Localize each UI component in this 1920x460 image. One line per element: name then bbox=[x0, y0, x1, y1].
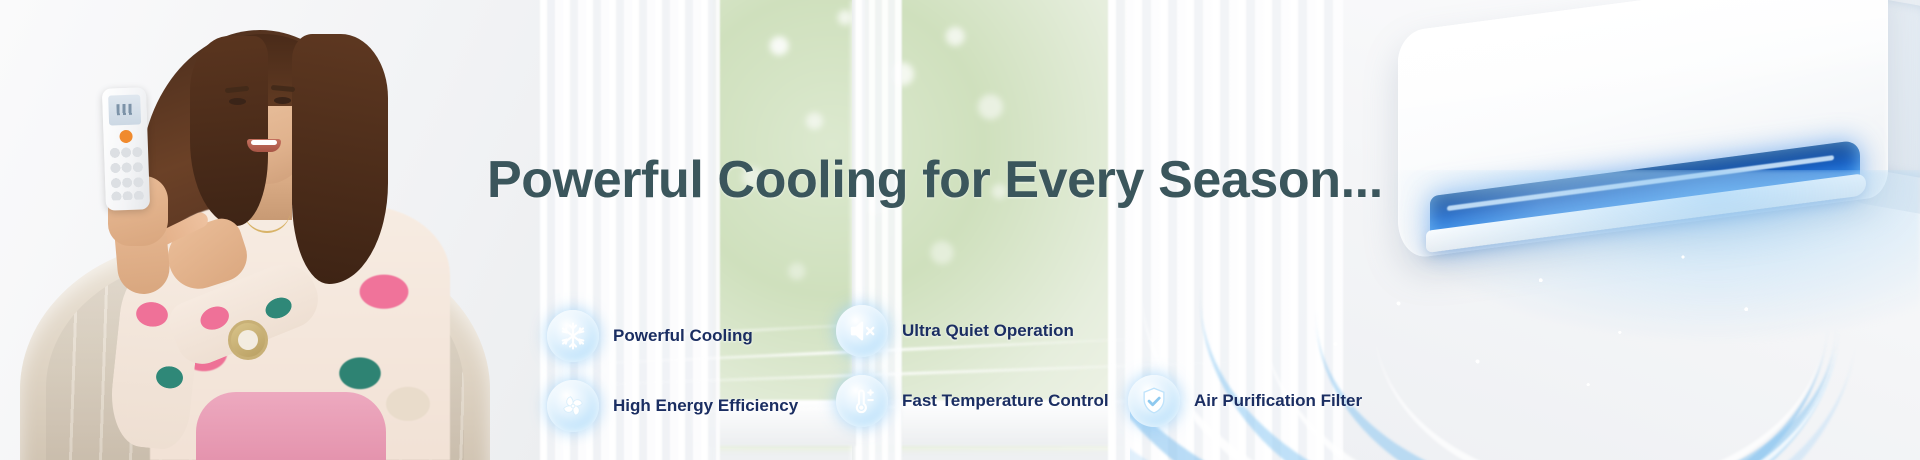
thermometer-plus-minus-icon bbox=[836, 375, 888, 427]
ac-remote-control bbox=[102, 87, 150, 210]
snowflake-icon bbox=[547, 310, 599, 362]
smile bbox=[247, 139, 281, 152]
wristwatch bbox=[228, 320, 268, 360]
feature-powerful-cooling: Powerful Cooling bbox=[547, 310, 753, 362]
feature-label: Ultra Quiet Operation bbox=[902, 321, 1074, 341]
remote-keypad bbox=[109, 145, 145, 200]
remote-power-button bbox=[119, 130, 132, 143]
page-title: Powerful Cooling for Every Season... bbox=[487, 150, 1383, 210]
feature-air-purification-filter: Air Purification Filter bbox=[1128, 375, 1362, 427]
fan-icon bbox=[547, 380, 599, 432]
feature-ultra-quiet-operation: Ultra Quiet Operation bbox=[836, 305, 1074, 357]
remote-display bbox=[108, 94, 141, 125]
promo-banner: Powerful Cooling for Every Season... Pow… bbox=[0, 0, 1920, 460]
eye-left bbox=[229, 98, 246, 105]
woman-holding-remote bbox=[0, 0, 560, 460]
feature-fast-temperature-control: Fast Temperature Control bbox=[836, 375, 1109, 427]
feature-label: Powerful Cooling bbox=[613, 326, 753, 346]
pink-trousers bbox=[196, 392, 386, 460]
feature-label: Fast Temperature Control bbox=[902, 391, 1109, 411]
shield-check-icon bbox=[1128, 375, 1180, 427]
feature-high-energy-efficiency: High Energy Efficiency bbox=[547, 380, 798, 432]
hair-strand-left bbox=[190, 36, 268, 226]
feature-label: Air Purification Filter bbox=[1194, 391, 1362, 411]
feature-label: High Energy Efficiency bbox=[613, 396, 798, 416]
eye-right bbox=[274, 97, 291, 104]
hair-strand-right bbox=[292, 34, 388, 284]
mute-speaker-icon bbox=[836, 305, 888, 357]
